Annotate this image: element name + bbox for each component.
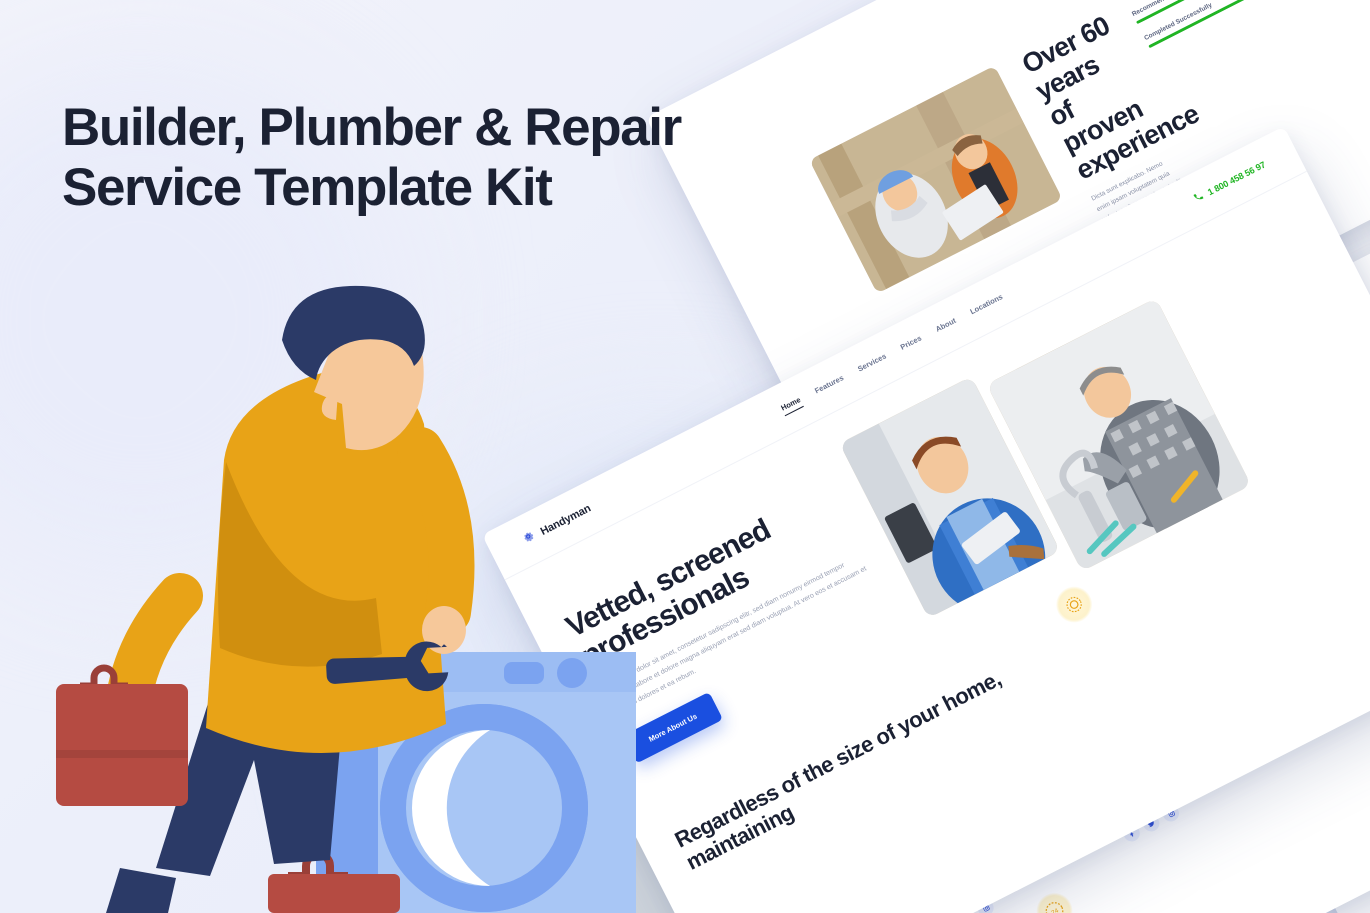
progress-bar-row: Completed Successfully 90% — [1143, 0, 1370, 48]
shield-watermark-icon — [1305, 880, 1321, 903]
progress-bar-group: Recommended 80% Completed Successfully 9… — [1131, 0, 1370, 60]
nav-item-services[interactable]: Services — [856, 351, 889, 376]
handyman-illustration — [20, 280, 700, 913]
nav-item-about[interactable]: About — [934, 316, 959, 337]
torso — [206, 366, 446, 753]
svg-text:24: 24 — [1050, 907, 1060, 913]
phone-number: 1 800 458 56 97 — [1206, 159, 1267, 197]
left-arm-and-toolbox — [56, 596, 188, 806]
headline-line-1: Builder, Plumber & Repair — [62, 98, 722, 158]
page-title: Builder, Plumber & Repair Service Templa… — [62, 98, 722, 218]
watermark-label: elements — [1326, 888, 1356, 895]
nav-item-home[interactable]: Home — [779, 395, 803, 415]
progress-bar-row: Recommended 80% — [1131, 0, 1360, 24]
headline-line-2: Service Template Kit — [62, 158, 722, 218]
phone-icon — [1191, 187, 1208, 208]
nav-item-locations[interactable]: Locations — [969, 292, 1006, 319]
progress-bar-track — [1136, 0, 1360, 24]
nav-item-prices[interactable]: Prices — [899, 333, 925, 354]
nav-item-features[interactable]: Features — [813, 373, 846, 398]
poster-canvas: V Insurance Claims Sed ut perspiciatis u… — [0, 0, 1370, 913]
watermark: elements — [1305, 880, 1356, 903]
